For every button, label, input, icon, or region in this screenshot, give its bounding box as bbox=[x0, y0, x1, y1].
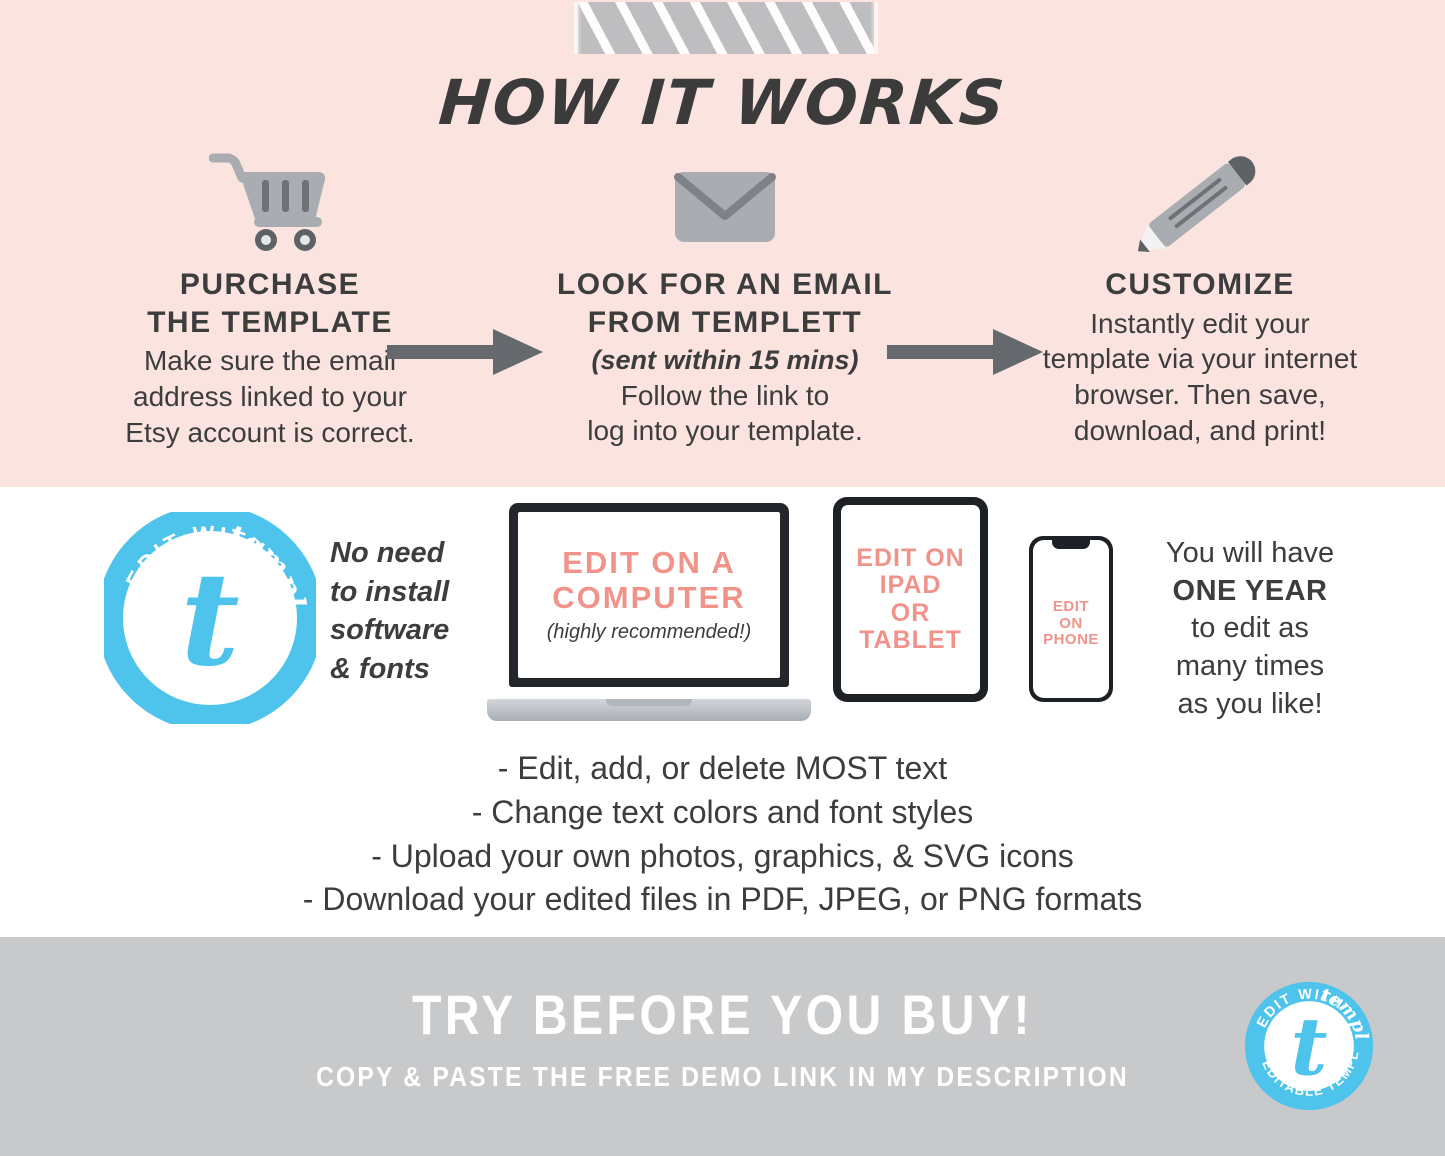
how-it-works-panel: HOW IT WORKS bbox=[0, 0, 1445, 487]
no-need-line3: software bbox=[330, 611, 480, 650]
step-2-heading-line1: LOOK FOR AN EMAIL bbox=[510, 266, 940, 304]
steps-row: PURCHASE THE TEMPLATE Make sure the emai… bbox=[0, 140, 1445, 470]
phone-line1: EDIT bbox=[1043, 599, 1099, 616]
templett-badge-large: EDIT WITH templett EDITABLE TEMPLATE t bbox=[104, 512, 316, 724]
tablet-line4: TABLET bbox=[856, 627, 964, 655]
step-2-body-line2: log into your template. bbox=[510, 413, 940, 449]
step-1-heading-line1: PURCHASE bbox=[60, 266, 480, 304]
tablet-screen-title: EDIT ON IPAD OR TABLET bbox=[856, 545, 964, 655]
laptop-title-line1: EDIT ON A bbox=[552, 546, 745, 581]
step-3-heading-line1: CUSTOMIZE bbox=[980, 266, 1420, 304]
no-need-line4: & fonts bbox=[330, 650, 480, 689]
step-2-body: (sent within 15 mins) Follow the link to… bbox=[510, 343, 940, 449]
step-1-body-line2: address linked to your bbox=[60, 379, 480, 415]
step-customize: CUSTOMIZE Instantly edit your template v… bbox=[980, 140, 1420, 449]
laptop-trackpad-notch bbox=[606, 699, 692, 706]
step-3-body-line4: download, and print! bbox=[980, 413, 1420, 449]
one-year-text: You will have ONE YEAR to edit as many t… bbox=[1125, 535, 1375, 723]
one-year-line3: to edit as bbox=[1125, 610, 1375, 648]
step-3-body: Instantly edit your template via your in… bbox=[980, 306, 1420, 449]
page-title: HOW IT WORKS bbox=[0, 66, 1445, 139]
phone-screen: EDIT ON PHONE bbox=[1033, 540, 1109, 698]
phone-line2: ON bbox=[1043, 616, 1099, 633]
infographic-canvas: HOW IT WORKS bbox=[0, 0, 1445, 1156]
phone-line3: PHONE bbox=[1043, 632, 1099, 649]
step-1-body-line3: Etsy account is correct. bbox=[60, 415, 480, 451]
phone-notch bbox=[1052, 540, 1090, 549]
tablet-screen: EDIT ON IPAD OR TABLET bbox=[841, 505, 980, 694]
templett-badge-small: EDIT WITH templett EDITABLE TEMPLATE t bbox=[1243, 980, 1375, 1112]
step-email: LOOK FOR AN EMAIL FROM TEMPLETT (sent wi… bbox=[510, 140, 940, 449]
shopping-cart-icon bbox=[60, 140, 480, 252]
step-purchase: PURCHASE THE TEMPLATE Make sure the emai… bbox=[60, 140, 480, 450]
no-need-text: No need to install software & fonts bbox=[330, 534, 480, 688]
step-2-body-line1: Follow the link to bbox=[510, 378, 940, 414]
one-year-line4: many times bbox=[1125, 648, 1375, 686]
phone-mockup: EDIT ON PHONE bbox=[1029, 536, 1113, 702]
laptop-base bbox=[487, 699, 811, 721]
footer-title: TRY BEFORE YOU BUY! bbox=[101, 982, 1344, 1047]
tablet-line1: EDIT ON bbox=[856, 545, 964, 573]
feature-bullet-list: - Edit, add, or delete MOST text - Chang… bbox=[0, 747, 1445, 922]
step-3-body-line3: browser. Then save, bbox=[980, 377, 1420, 413]
envelope-icon bbox=[510, 140, 940, 252]
one-year-emphasis: ONE YEAR bbox=[1173, 575, 1328, 607]
badge-monogram: t bbox=[180, 545, 239, 695]
no-need-line1: No need bbox=[330, 534, 480, 573]
features-panel: EDIT WITH templett EDITABLE TEMPLATE t N… bbox=[0, 487, 1445, 937]
step-2-heading-line2: FROM TEMPLETT bbox=[510, 304, 940, 342]
arrow-right-icon-1 bbox=[385, 325, 545, 379]
laptop-title-line2: COMPUTER bbox=[552, 581, 745, 616]
step-2-note: (sent within 15 mins) bbox=[510, 343, 940, 378]
laptop-mockup: EDIT ON A COMPUTER (highly recommended!) bbox=[487, 503, 811, 721]
step-3-body-line1: Instantly edit your bbox=[980, 306, 1420, 342]
step-3-body-line2: template via your internet bbox=[980, 341, 1420, 377]
list-item: - Edit, add, or delete MOST text bbox=[0, 747, 1445, 791]
footer-subtitle: COPY & PASTE THE FREE DEMO LINK IN MY DE… bbox=[87, 1061, 1359, 1093]
step-2-heading: LOOK FOR AN EMAIL FROM TEMPLETT bbox=[510, 266, 940, 341]
no-need-line2: to install bbox=[330, 573, 480, 612]
tablet-line3: OR bbox=[856, 600, 964, 628]
one-year-line5: as you like! bbox=[1125, 686, 1375, 724]
list-item: - Change text colors and font styles bbox=[0, 791, 1445, 835]
arrow-right-icon-2 bbox=[885, 325, 1045, 379]
one-year-line1: You will have bbox=[1125, 535, 1375, 573]
list-item: - Download your edited files in PDF, JPE… bbox=[0, 878, 1445, 922]
tablet-line2: IPAD bbox=[856, 572, 964, 600]
washi-tape-icon bbox=[578, 2, 874, 54]
pencil-icon bbox=[980, 140, 1420, 252]
laptop-lid: EDIT ON A COMPUTER (highly recommended!) bbox=[509, 503, 789, 687]
laptop-screen-subtitle: (highly recommended!) bbox=[547, 621, 752, 644]
step-3-heading: CUSTOMIZE bbox=[980, 266, 1420, 304]
laptop-screen: EDIT ON A COMPUTER (highly recommended!) bbox=[518, 512, 780, 678]
laptop-screen-title: EDIT ON A COMPUTER bbox=[552, 546, 745, 615]
list-item: - Upload your own photos, graphics, & SV… bbox=[0, 835, 1445, 879]
tablet-mockup: EDIT ON IPAD OR TABLET bbox=[833, 497, 988, 702]
phone-screen-title: EDIT ON PHONE bbox=[1043, 599, 1099, 649]
badge-small-monogram: t bbox=[1291, 1000, 1328, 1094]
